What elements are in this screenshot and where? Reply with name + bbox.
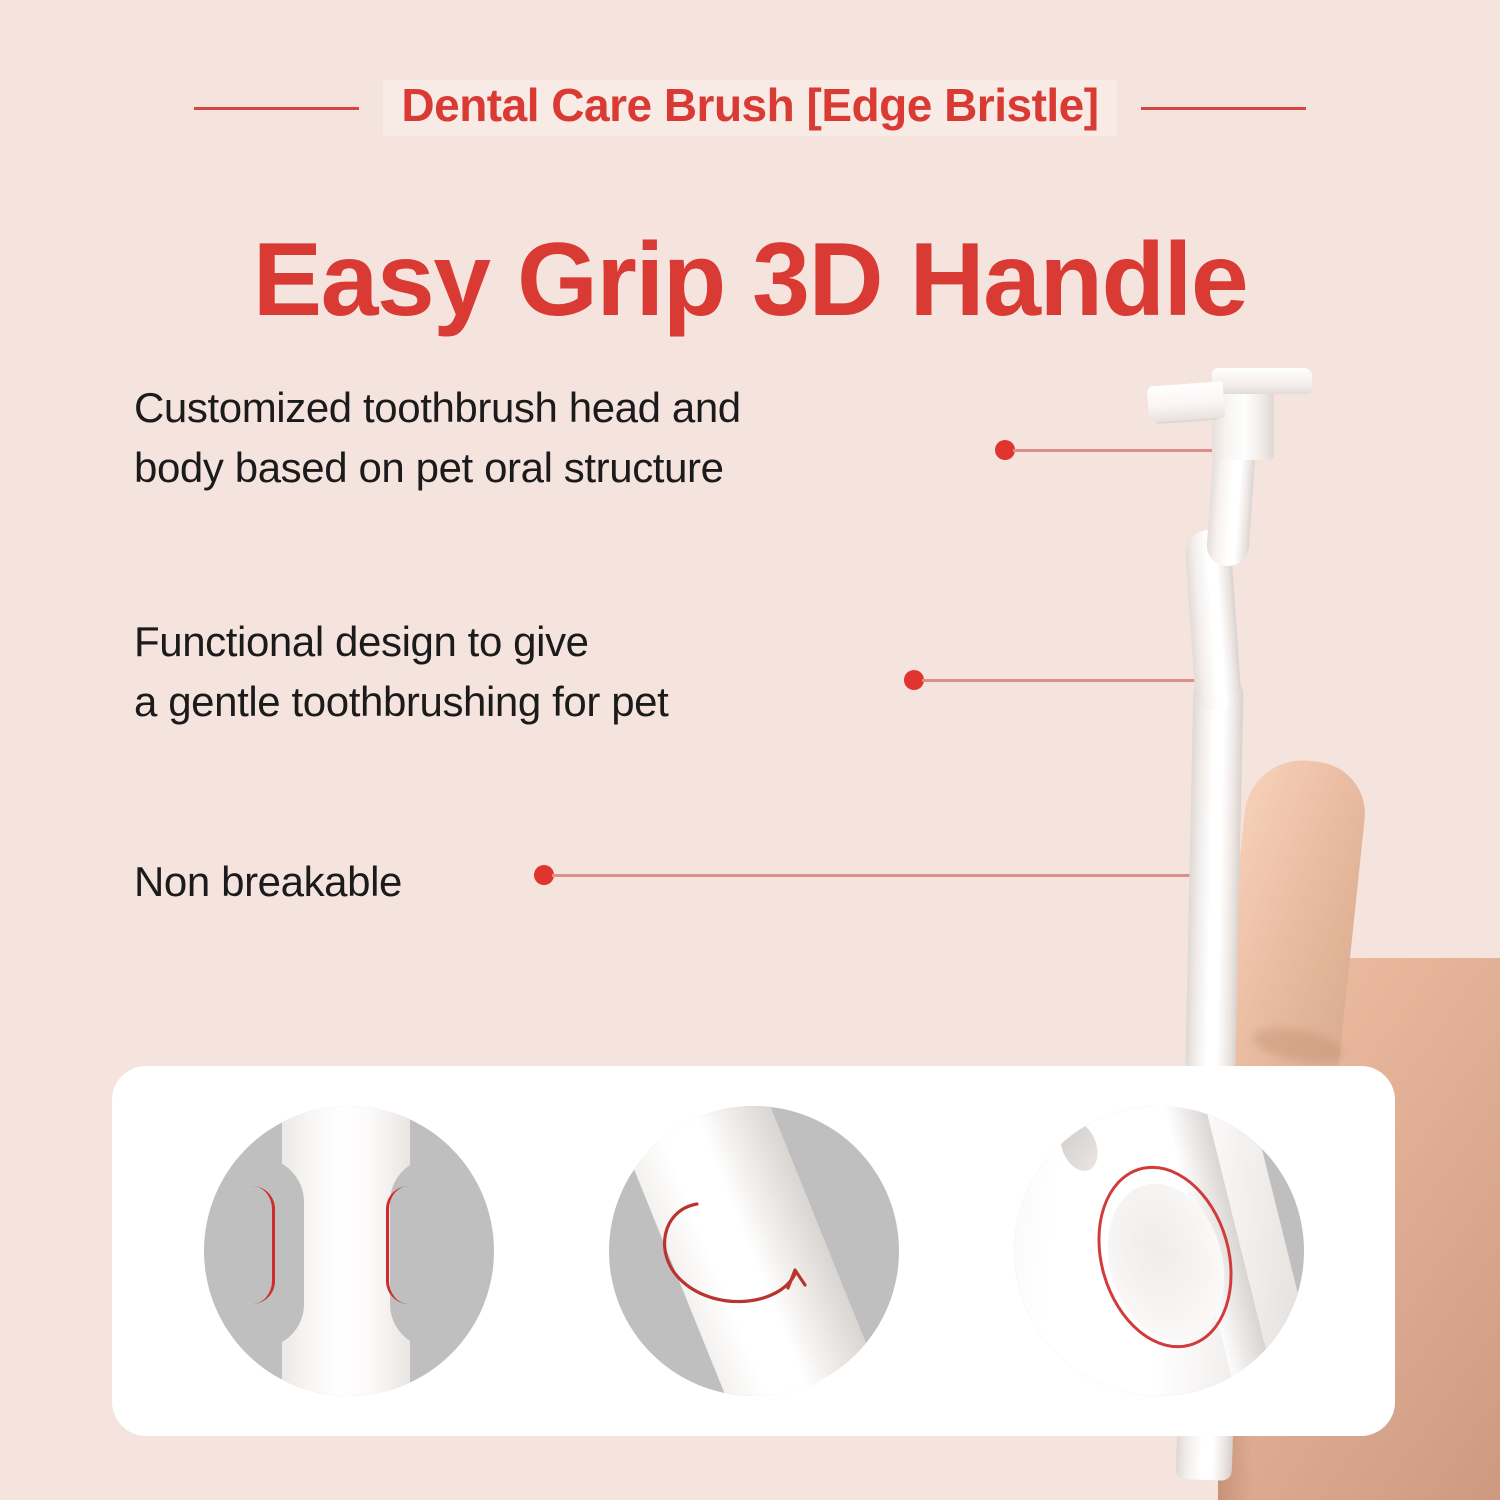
eyebrow-text: Dental Care Brush [Edge Bristle]	[401, 82, 1098, 128]
page-title: Easy Grip 3D Handle	[0, 222, 1500, 338]
detail-circle-waisted-grip	[204, 1106, 494, 1396]
eyebrow-rule-right	[1141, 107, 1306, 110]
leader-dot-3	[534, 865, 554, 885]
feature-text-non-breakable: Non breakable	[134, 852, 402, 912]
toothbrush-head-top	[1212, 368, 1312, 394]
annotation-rotation-arrow-icon	[609, 1106, 899, 1396]
detail-circle-thumb-rest	[1014, 1106, 1304, 1396]
feature-text-functional-design: Functional design to give a gentle tooth…	[134, 612, 668, 731]
product-infographic: Dental Care Brush [Edge Bristle] Easy Gr…	[0, 0, 1500, 1500]
eyebrow-row: Dental Care Brush [Edge Bristle]	[0, 70, 1500, 146]
annotation-curve-right-icon	[386, 1186, 409, 1304]
leader-dot-2	[904, 670, 924, 690]
annotation-curve-left-icon	[252, 1186, 275, 1304]
leader-dot-1	[995, 440, 1015, 460]
toothbrush-bristle-tuft	[1147, 381, 1225, 422]
eyebrow-rule-left	[194, 107, 359, 110]
eyebrow-badge: Dental Care Brush [Edge Bristle]	[383, 80, 1116, 136]
feature-text-custom-head: Customized toothbrush head and body base…	[134, 378, 741, 497]
detail-circle-rotation-grip	[609, 1106, 899, 1396]
detail-card	[112, 1066, 1395, 1436]
